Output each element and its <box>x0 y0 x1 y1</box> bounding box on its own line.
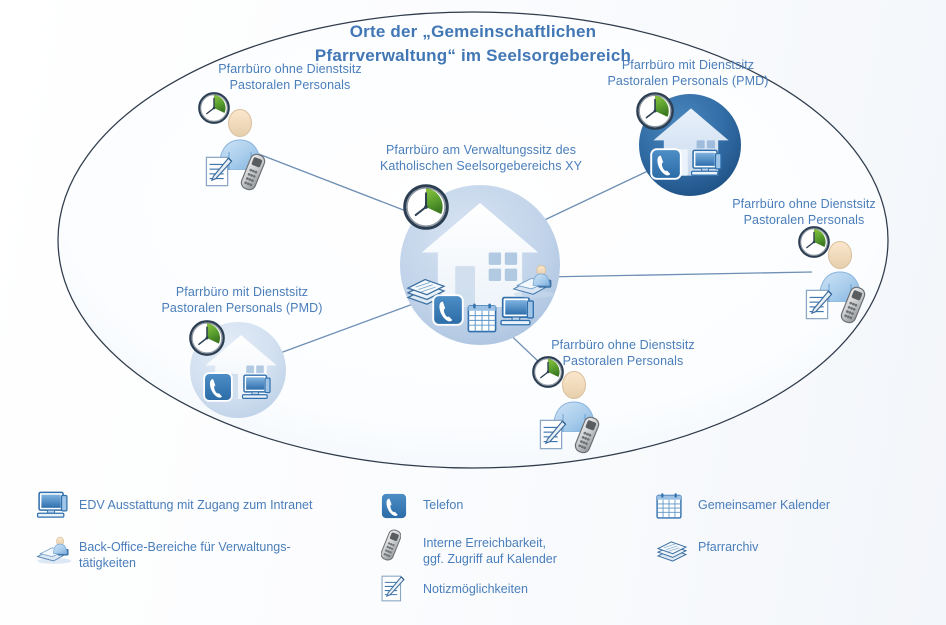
legend-item-mobile: Interne Erreichbarkeit, ggf. Zugriff auf… <box>380 528 557 567</box>
label-line2: Katholischen Seelsorgebereichs XY <box>371 159 591 175</box>
telephone-icon <box>380 490 414 524</box>
telephone-icon <box>651 149 681 179</box>
mobile-phone-icon <box>380 528 414 562</box>
notepad-icon <box>806 290 831 318</box>
legend-item-label: Interne Erreichbarkeit, ggf. Zugriff auf… <box>414 528 557 567</box>
legend-item-label: EDV Ausstattung mit Zugang zum Intranet <box>70 490 312 513</box>
calendar-icon <box>468 304 495 332</box>
archive-icon <box>655 532 689 566</box>
label-line1: Pfarrbüro am Verwaltungssitz des <box>371 143 591 159</box>
label-line1: Pfarrbüro mit Dienstsitz <box>598 58 778 74</box>
node-label-administration-seat-center: Pfarrbüro am Verwaltungssitz des Katholi… <box>371 143 591 174</box>
page-title-line1: Orte der „Gemeinschaftlichen <box>263 20 683 44</box>
node-label-pmd-left: Pfarrbüro mit Dienstsitz Pastoralen Pers… <box>152 285 332 316</box>
legend-item-notizen: Notizmöglichkeiten <box>380 574 528 608</box>
computer-icon <box>36 490 70 524</box>
label-line2: Pastoralen Personals (PMD) <box>152 301 332 317</box>
node-label-office-no-seat-bottom: Pfarrbüro ohne Dienstsitz Pastoralen Per… <box>543 338 703 369</box>
clock-icon <box>637 93 672 128</box>
calendar-icon <box>655 490 689 524</box>
legend: EDV Ausstattung mit Zugang zum Intranet … <box>0 480 946 625</box>
label-line2: Pastoralen Personals <box>724 213 884 229</box>
node-label-office-no-seat-topleft: Pfarrbüro ohne Dienstsitz Pastoralen Per… <box>215 62 365 93</box>
back-office-icon <box>36 532 70 566</box>
legend-item-label: Back-Office-Bereiche für Verwaltungs- tä… <box>70 532 291 571</box>
label-line1: Pfarrbüro mit Dienstsitz <box>152 285 332 301</box>
telephone-icon <box>204 373 232 401</box>
clock-icon <box>199 93 229 123</box>
node-pmd-left[interactable] <box>190 321 286 418</box>
diagram-stage: Orte der „Gemeinschaftlichen Pfarrverwal… <box>0 0 946 625</box>
legend-item-label: Pfarrarchiv <box>689 532 758 555</box>
label-line2: Pastoralen Personals (PMD) <box>598 74 778 90</box>
telephone-icon <box>433 295 463 325</box>
label-line1: Pfarrbüro ohne Dienstsitz <box>724 197 884 213</box>
legend-item-label: Telefon <box>414 490 463 513</box>
node-administration-seat-center[interactable] <box>400 185 560 345</box>
legend-item-kalender: Gemeinsamer Kalender <box>655 490 830 524</box>
legend-item-pfarrarchiv: Pfarrarchiv <box>655 532 758 566</box>
label-line1: Pfarrbüro ohne Dienstsitz <box>543 338 703 354</box>
node-label-pmd-topright: Pfarrbüro mit Dienstsitz Pastoralen Pers… <box>598 58 778 89</box>
legend-item-label: Gemeinsamer Kalender <box>689 490 830 513</box>
legend-item-label: Notizmöglichkeiten <box>414 574 528 597</box>
clock-icon <box>799 227 829 257</box>
node-label-office-no-seat-right: Pfarrbüro ohne Dienstsitz Pastoralen Per… <box>724 197 884 228</box>
label-line1: Pfarrbüro ohne Dienstsitz <box>215 62 365 78</box>
notepad-icon <box>206 157 231 185</box>
computer-icon <box>501 298 533 325</box>
label-line2: Pastoralen Personals <box>215 78 365 94</box>
legend-item-back-office: Back-Office-Bereiche für Verwaltungs- tä… <box>36 532 291 571</box>
label-line2: Pastoralen Personals <box>543 354 703 370</box>
computer-icon <box>243 375 271 398</box>
legend-item-telefon: Telefon <box>380 490 463 524</box>
clock-icon <box>190 321 223 354</box>
clock-icon <box>405 186 448 229</box>
legend-item-edv: EDV Ausstattung mit Zugang zum Intranet <box>36 490 312 524</box>
notepad-icon <box>540 420 565 448</box>
computer-icon <box>692 150 721 175</box>
notepad-icon <box>380 574 414 608</box>
